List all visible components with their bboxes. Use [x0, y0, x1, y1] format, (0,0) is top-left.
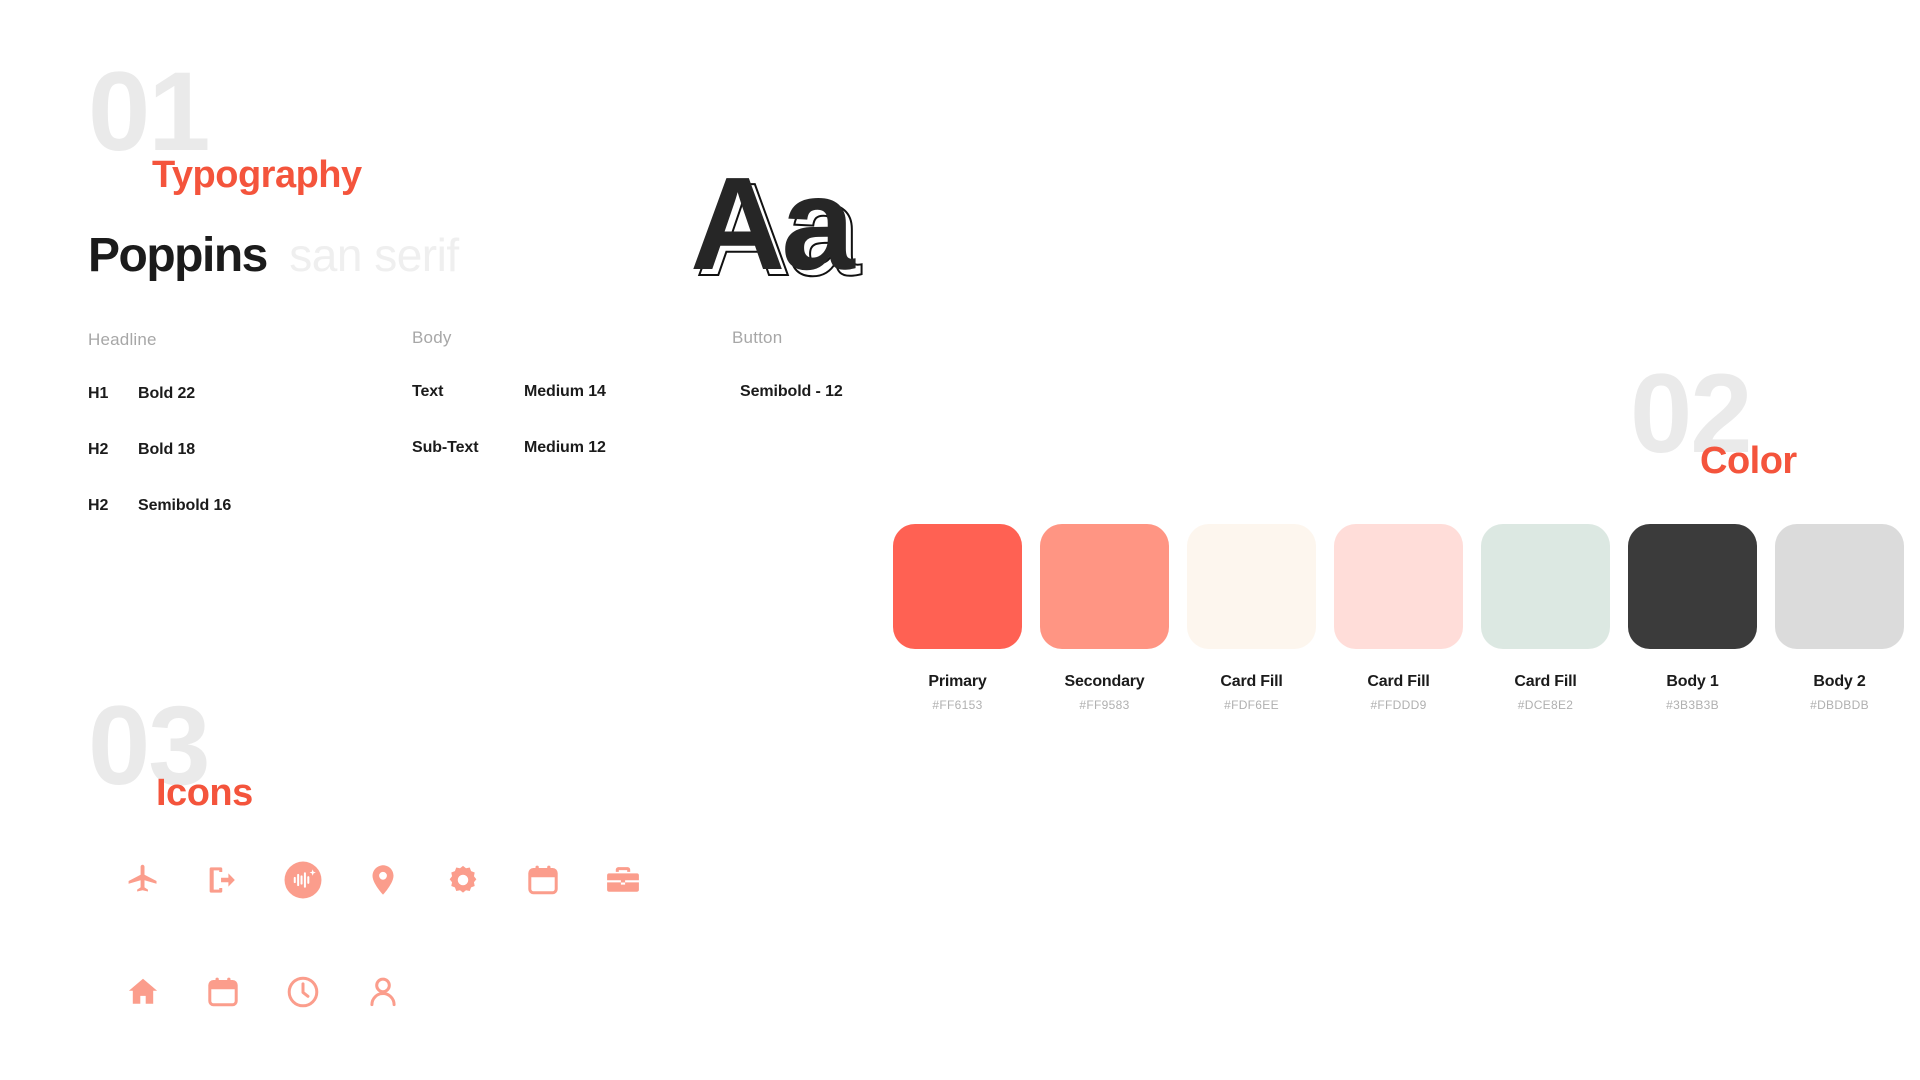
type-specimen-aa: Aa Aa — [690, 158, 930, 288]
color-swatch[interactable]: Primary #FF6153 — [893, 524, 1022, 712]
swatch-chip[interactable] — [1628, 524, 1757, 649]
swatch-hex: #FDF6EE — [1187, 698, 1316, 712]
swatch-name: Body 1 — [1628, 673, 1757, 691]
calendar-icon[interactable] — [183, 957, 263, 1027]
font-classification: san serif — [289, 229, 458, 281]
type-row-key: Text — [412, 383, 524, 401]
font-name: Poppins — [88, 229, 267, 282]
type-row-value: Bold 18 — [138, 441, 195, 459]
type-column-headline: Headline H1 Bold 22 H2 Bold 18 H2 Semibo… — [88, 330, 231, 552]
type-row-key: Sub-Text — [412, 439, 524, 457]
section-title: Color — [1700, 442, 1797, 480]
swatch-chip[interactable] — [1481, 524, 1610, 649]
color-swatch[interactable]: Card Fill #FFDDD9 — [1334, 524, 1463, 712]
swatch-name: Primary — [893, 673, 1022, 691]
gear-icon[interactable] — [423, 845, 503, 915]
type-specimen-fill: Aa — [690, 158, 851, 290]
swatch-chip[interactable] — [1775, 524, 1904, 649]
color-swatch[interactable]: Card Fill #DCE8E2 — [1481, 524, 1610, 712]
swatch-name: Card Fill — [1481, 673, 1610, 691]
color-swatch[interactable]: Secondary #FF9583 — [1040, 524, 1169, 712]
icon-row-secondary — [103, 957, 663, 1027]
font-family-display: Poppins san serif — [88, 228, 459, 283]
swatch-hex: #FFDDD9 — [1334, 698, 1463, 712]
type-row-value: Semibold - 12 — [740, 383, 843, 401]
type-row-value: Semibold 16 — [138, 497, 231, 515]
section-heading-color: 02 Color — [1630, 358, 1920, 488]
airplane-icon[interactable] — [103, 845, 183, 915]
calendar-icon[interactable] — [503, 845, 583, 915]
swatch-chip[interactable] — [1187, 524, 1316, 649]
swatch-chip[interactable] — [893, 524, 1022, 649]
type-row-key: H2 — [88, 497, 138, 515]
type-column-button: Button Semibold - 12 — [732, 328, 843, 438]
swatch-hex: #FF6153 — [893, 698, 1022, 712]
section-title: Typography — [152, 156, 362, 194]
section-number: 01 — [88, 56, 209, 168]
type-row: Sub-Text Medium 12 — [412, 438, 606, 458]
section-title: Icons — [156, 774, 253, 812]
briefcase-icon[interactable] — [583, 845, 663, 915]
type-column-title: Headline — [88, 330, 231, 350]
icon-library — [103, 845, 663, 1027]
type-row: H2 Semibold 16 — [88, 496, 231, 516]
type-row-value: Medium 14 — [524, 383, 606, 401]
type-row-value: Bold 22 — [138, 385, 195, 403]
swatch-hex: #FF9583 — [1040, 698, 1169, 712]
type-row-key: H2 — [88, 441, 138, 459]
type-row: Semibold - 12 — [732, 382, 843, 402]
type-row: H2 Bold 18 — [88, 440, 231, 460]
type-column-title: Body — [412, 328, 606, 348]
swatch-chip[interactable] — [1040, 524, 1169, 649]
type-row: H1 Bold 22 — [88, 384, 231, 404]
color-swatch[interactable]: Card Fill #FDF6EE — [1187, 524, 1316, 712]
swatch-name: Card Fill — [1334, 673, 1463, 691]
logout-icon[interactable] — [183, 845, 263, 915]
color-swatch[interactable]: Body 1 #3B3B3B — [1628, 524, 1757, 712]
section-heading-icons: 03 Icons — [88, 690, 418, 820]
audio-wave-icon[interactable] — [263, 845, 343, 915]
home-icon[interactable] — [103, 957, 183, 1027]
color-swatch[interactable]: Body 2 #DBDBDB — [1775, 524, 1904, 712]
swatch-hex: #3B3B3B — [1628, 698, 1757, 712]
icon-row-primary — [103, 845, 663, 915]
swatch-chip[interactable] — [1334, 524, 1463, 649]
style-guide-page: 01 Typography Poppins san serif Aa Aa He… — [0, 0, 1920, 1080]
swatch-name: Body 2 — [1775, 673, 1904, 691]
type-row-value: Medium 12 — [524, 439, 606, 457]
section-heading-typography: 01 Typography — [88, 56, 508, 186]
user-icon[interactable] — [343, 957, 423, 1027]
type-column-body: Body Text Medium 14 Sub-Text Medium 12 — [412, 328, 606, 494]
swatch-name: Secondary — [1040, 673, 1169, 691]
type-row: Text Medium 14 — [412, 382, 606, 402]
swatch-name: Card Fill — [1187, 673, 1316, 691]
type-row-key: H1 — [88, 385, 138, 403]
swatch-hex: #DBDBDB — [1775, 698, 1904, 712]
color-swatch-list: Primary #FF6153 Secondary #FF9583 Card F… — [893, 524, 1904, 712]
clock-icon[interactable] — [263, 957, 343, 1027]
location-pin-icon[interactable] — [343, 845, 423, 915]
swatch-hex: #DCE8E2 — [1481, 698, 1610, 712]
type-column-title: Button — [732, 328, 843, 348]
